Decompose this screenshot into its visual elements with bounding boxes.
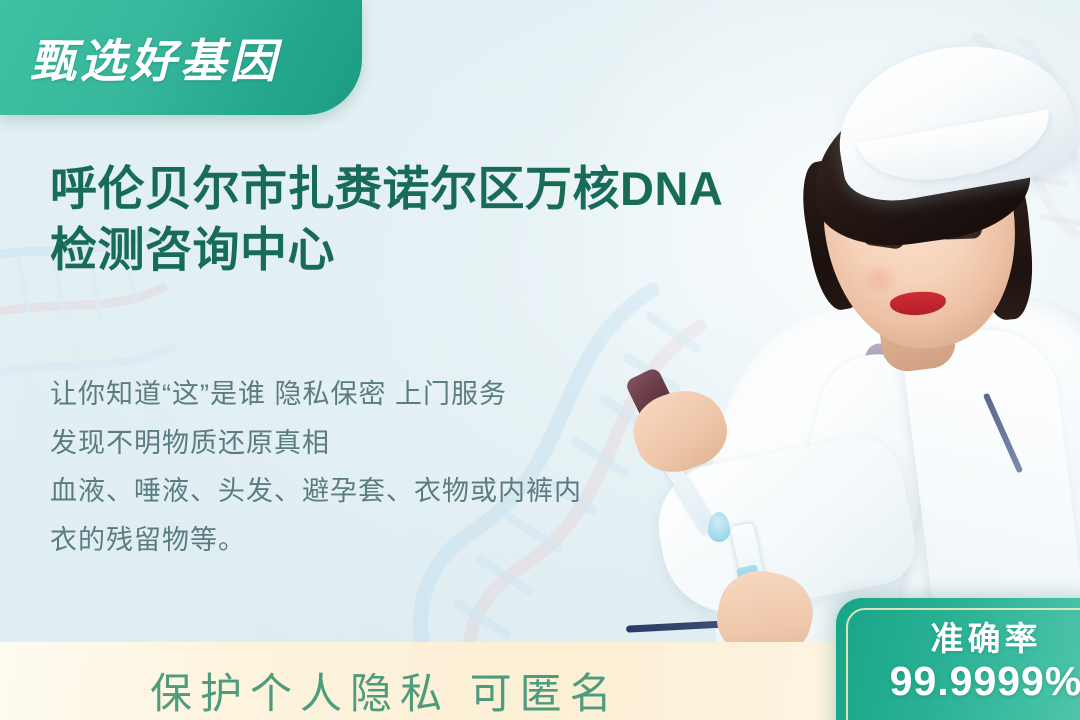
body-copy-line-1: 让你知道“这”是谁 隐私保密 上门服务 — [50, 370, 750, 419]
page-title-line-2: 检测咨询中心 — [50, 219, 840, 280]
page-title-line-1: 呼伦贝尔市扎赉诺尔区万核DNA — [50, 158, 840, 219]
bottom-strip-label: 保护个人隐私 可匿名 — [150, 660, 620, 720]
page-title: 呼伦贝尔市扎赉诺尔区万核DNA 检测咨询中心 — [50, 158, 840, 280]
promotional-banner: 甄选好基因 呼伦贝尔市扎赉诺尔区万核DNA 检测咨询中心 让你知道“这”是谁 隐… — [0, 0, 1080, 720]
accuracy-badge-label: 准确率 — [836, 612, 1080, 660]
body-copy-line-3: 血液、唾液、头发、避孕套、衣物或内裤内 — [50, 467, 750, 516]
brand-tab-label: 甄选好基因 — [30, 25, 280, 91]
body-copy-line-2: 发现不明物质还原真相 — [50, 419, 750, 468]
accuracy-badge: 准确率 99.9999% — [836, 598, 1080, 720]
accuracy-badge-value: 99.9999% — [836, 658, 1080, 705]
body-copy-line-4: 衣的残留物等。 — [50, 516, 750, 565]
cheek-blush — [856, 266, 904, 292]
body-copy: 让你知道“这”是谁 隐私保密 上门服务 发现不明物质还原真相 血液、唾液、头发、… — [50, 370, 750, 564]
brand-tab: 甄选好基因 — [0, 0, 362, 115]
